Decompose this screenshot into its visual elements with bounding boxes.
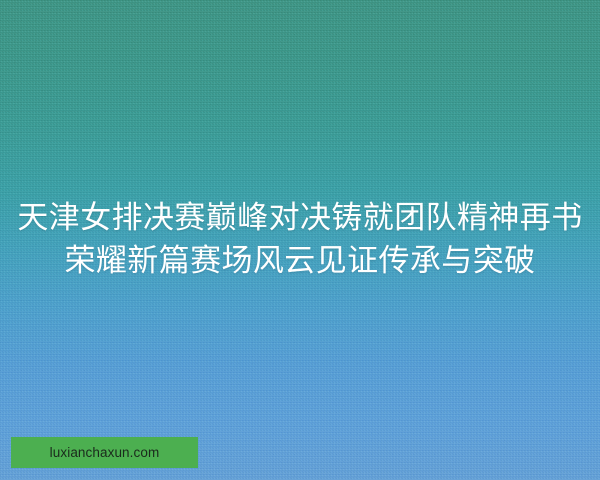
headline-text: 天津女排决赛巅峰对决铸就团队精神再书 荣耀新篇赛场风云见证传承与突破 <box>0 196 600 282</box>
watermark-badge: luxianchaxun.com <box>11 437 198 468</box>
watermark-label: luxianchaxun.com <box>50 446 160 460</box>
banner-image: 天津女排决赛巅峰对决铸就团队精神再书 荣耀新篇赛场风云见证传承与突破 luxia… <box>0 0 600 480</box>
headline-line-2: 荣耀新篇赛场风云见证传承与突破 <box>0 239 600 282</box>
headline-line-1: 天津女排决赛巅峰对决铸就团队精神再书 <box>0 196 600 239</box>
